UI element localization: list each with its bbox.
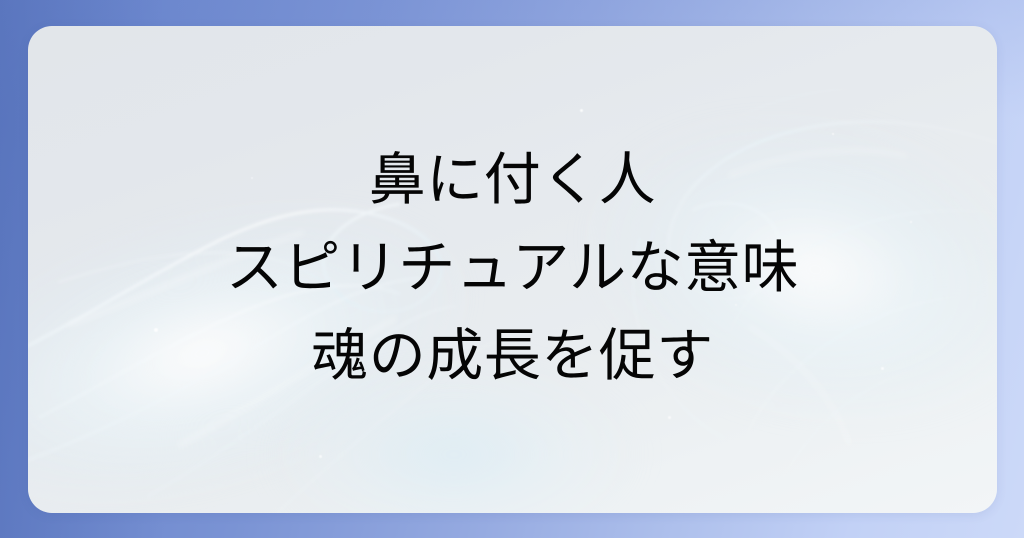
headline-line-1: 鼻に付く人 xyxy=(369,136,657,224)
headline-block: 鼻に付く人 スピリチュアルな意味 魂の成長を促す xyxy=(28,26,997,513)
content-card: 鼻に付く人 スピリチュアルな意味 魂の成長を促す xyxy=(28,26,997,513)
headline-line-3: 魂の成長を促す xyxy=(311,312,714,400)
headline-line-2: スピリチュアルな意味 xyxy=(226,224,799,312)
poster-canvas: 鼻に付く人 スピリチュアルな意味 魂の成長を促す xyxy=(0,0,1024,538)
